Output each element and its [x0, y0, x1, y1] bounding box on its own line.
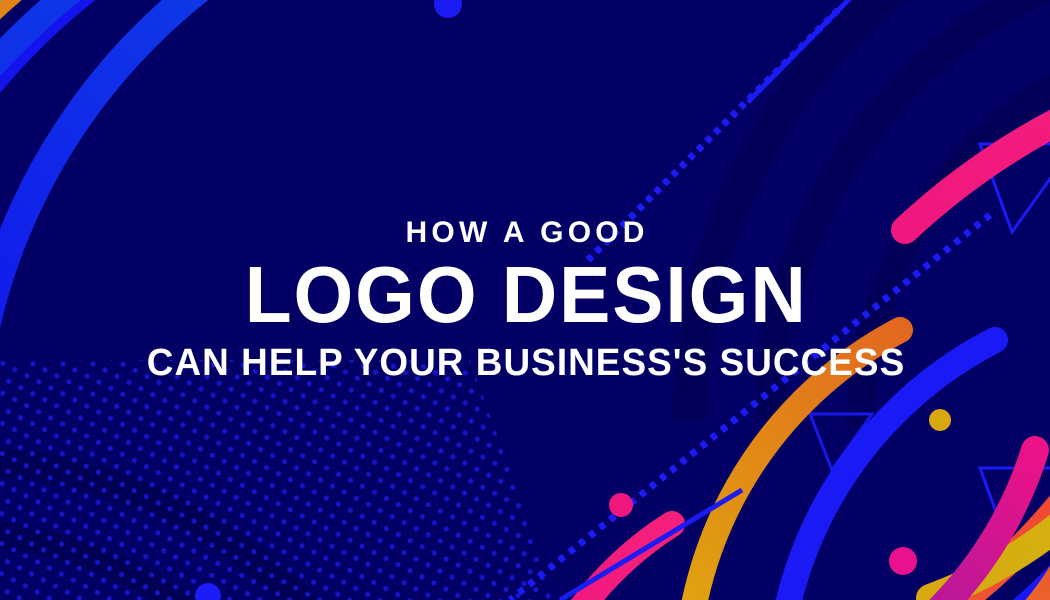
circle-gold-bottom-right	[929, 409, 951, 431]
circle-pink-bottom-right	[889, 547, 917, 575]
decorative-background	[0, 0, 1050, 600]
circle-pink-bottom-center	[609, 493, 633, 517]
banner-canvas: HOW A GOOD LOGO DESIGN CAN HELP YOUR BUS…	[0, 0, 1050, 600]
